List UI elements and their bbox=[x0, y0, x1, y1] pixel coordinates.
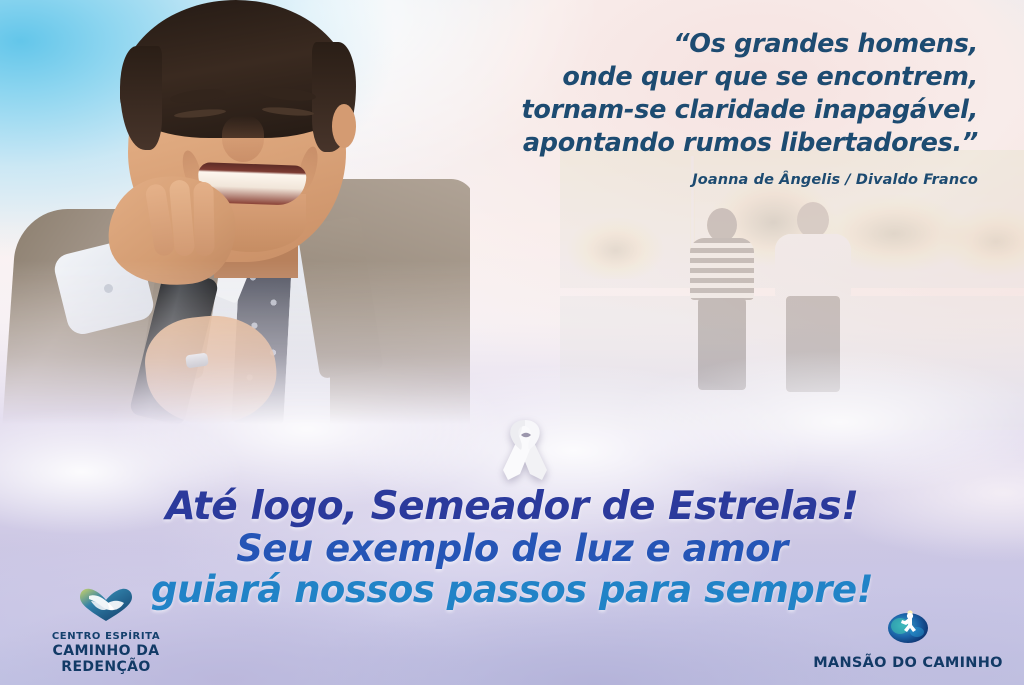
photo-person-torso bbox=[775, 234, 851, 298]
quote-line-4: apontando rumos libertadores.” bbox=[438, 127, 978, 160]
logo-centro-espirita[interactable]: CENTRO ESPÍRITA CAMINHO DA REDENÇÃO bbox=[8, 588, 204, 675]
photo-person-head bbox=[797, 202, 829, 238]
quote-line-2: onde quer que se encontrem, bbox=[438, 61, 978, 94]
photo-person-white-shirt bbox=[775, 202, 851, 392]
logo-right-main-label: MANSÃO DO CAMINHO bbox=[802, 655, 1014, 671]
photo-person-legs bbox=[698, 298, 746, 390]
quote-attribution: Joanna de Ângelis / Divaldo Franco bbox=[438, 172, 978, 188]
quote-line-3: tornam-se claridade inapagável, bbox=[438, 94, 978, 127]
terrace-photo-faded bbox=[560, 150, 1024, 430]
logo-left-sub-label: CENTRO ESPÍRITA bbox=[8, 631, 204, 643]
quote-line-1: “Os grandes homens, bbox=[438, 28, 978, 61]
white-awareness-ribbon-icon bbox=[481, 408, 569, 492]
photo-person-legs bbox=[786, 296, 840, 392]
tribute-poster: “Os grandes homens, onde quer que se enc… bbox=[0, 0, 1024, 685]
heart-hands-icon bbox=[8, 588, 204, 627]
photo-person-torso bbox=[690, 238, 754, 300]
logo-mansao-do-caminho[interactable]: MANSÃO DO CAMINHO bbox=[802, 604, 1014, 671]
photo-person-head bbox=[707, 208, 737, 242]
quote-block: “Os grandes homens, onde quer que se enc… bbox=[438, 28, 978, 188]
globe-figure-torch-icon bbox=[802, 604, 1014, 651]
headline-line-1: Até logo, Semeador de Estrelas! bbox=[0, 486, 1024, 528]
logo-left-main-label: CAMINHO DA REDENÇÃO bbox=[8, 643, 204, 675]
headline-line-2: Seu exemplo de luz e amor bbox=[0, 528, 1024, 569]
photo-person-striped-shirt bbox=[690, 208, 754, 388]
